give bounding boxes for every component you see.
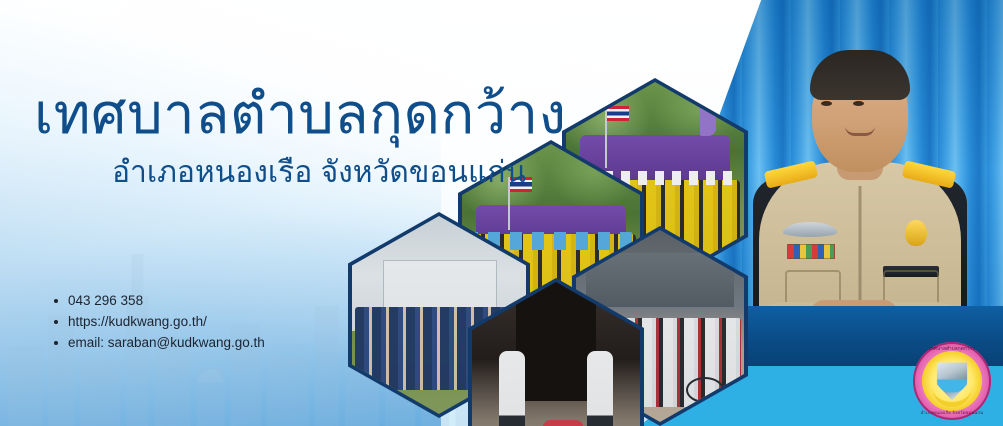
epaulette-right bbox=[902, 160, 956, 188]
wings-insignia bbox=[783, 222, 837, 237]
contact-item-website[interactable]: https://kudkwang.go.th/ bbox=[52, 311, 265, 332]
seal-text-bottom: อำเภอหนองเรือ จังหวัดขอนแก่น bbox=[913, 409, 991, 416]
gold-badge-icon bbox=[905, 220, 927, 246]
eye-left bbox=[821, 101, 832, 106]
eye-right bbox=[853, 101, 864, 106]
municipal-seal-logo[interactable]: เทศบาลตำบลกุดกว้าง อำเภอหนองเรือ จังหวัด… bbox=[913, 342, 991, 420]
ribbon-bar bbox=[787, 244, 835, 259]
contact-item-phone[interactable]: 043 296 358 bbox=[52, 290, 265, 311]
municipality-hero-banner: เทศบาลตำบลกุดกว้าง อำเภอหนองเรือ จังหวัด… bbox=[0, 0, 1003, 426]
hair bbox=[810, 50, 910, 100]
page-subtitle: อำเภอหนองเรือ จังหวัดขอนแก่น bbox=[112, 158, 526, 188]
contact-item-email[interactable]: email: saraban@kudkwang.go.th bbox=[52, 332, 265, 353]
contact-list: 043 296 358 https://kudkwang.go.th/ emai… bbox=[52, 290, 265, 353]
epaulette-left bbox=[764, 160, 818, 188]
seal-text-top: เทศบาลตำบลกุดกว้าง bbox=[913, 346, 991, 353]
page-title: เทศบาลตำบลกุดกว้าง bbox=[34, 86, 567, 142]
